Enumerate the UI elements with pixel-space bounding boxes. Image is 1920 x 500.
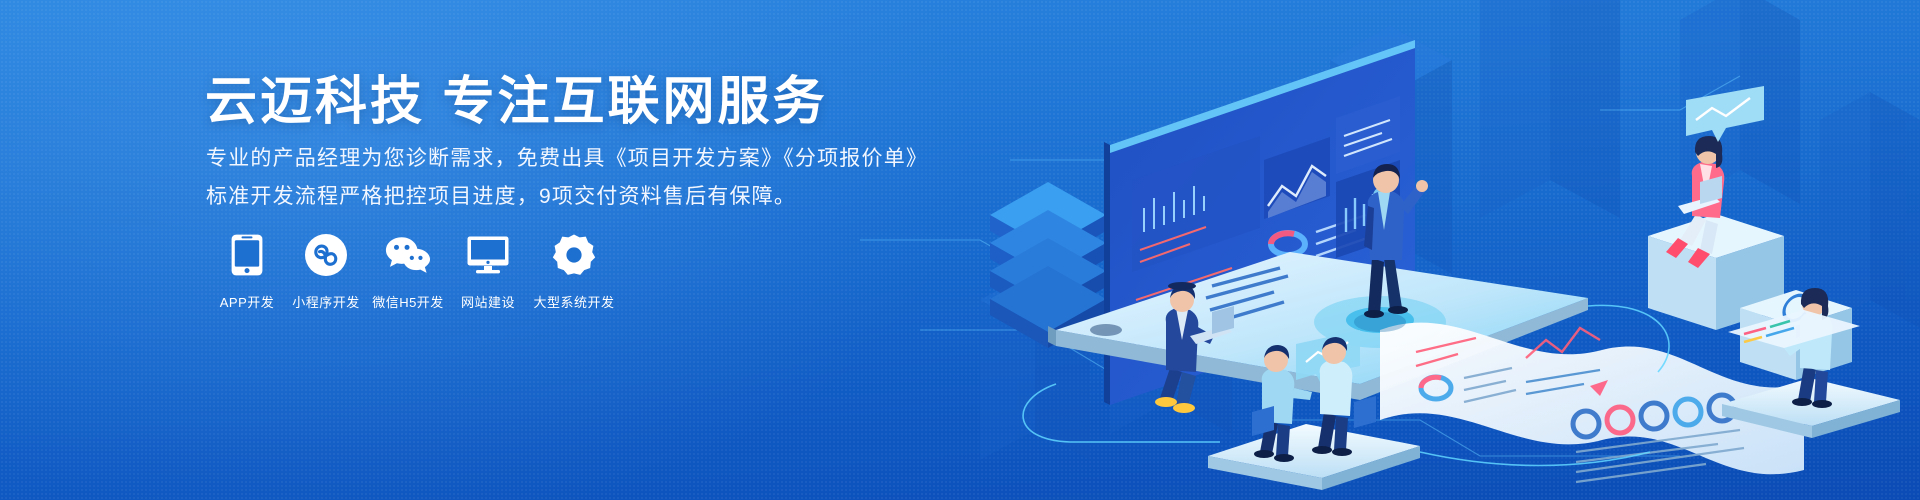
code-panel	[1728, 310, 1860, 348]
woman-on-tablet-platform	[1722, 288, 1900, 438]
chart-speech-bubble-small	[1296, 330, 1360, 386]
service-item-website[interactable]: 网站建设	[450, 232, 526, 311]
service-label: 网站建设	[461, 292, 515, 311]
chart-speech-bubble	[1686, 86, 1764, 142]
subtitle-line-1: 专业的产品经理为您诊断需求，免费出具《项目开发方案》《分项报价单》	[206, 148, 928, 169]
service-label: 大型系统开发	[533, 292, 614, 311]
service-label: 微信H5开发	[372, 292, 444, 311]
banner-content: 云迈科技 专注互联网服务 专业的产品经理为您诊断需求，免费出具《项目开发方案》《…	[200, 0, 1020, 500]
seated-person-laptop	[1155, 268, 1288, 413]
page-title: 云迈科技 专注互联网服务	[205, 74, 827, 130]
background-geometry	[980, 0, 1920, 460]
glow-connectors	[1023, 305, 1669, 465]
service-item-wechat-h5[interactable]: 微信H5开发	[366, 232, 450, 311]
gear-icon	[551, 232, 597, 278]
service-item-large-system[interactable]: 大型系统开发	[526, 232, 622, 311]
woman-on-pedestal-laptop	[1648, 86, 1784, 330]
two-people-on-phone-platform	[1208, 337, 1420, 490]
service-item-mini-program[interactable]: 小程序开发	[286, 232, 366, 311]
tablet-platform	[1048, 252, 1588, 400]
search-block-icon	[1740, 290, 1852, 380]
dashboard-screen	[1104, 40, 1420, 405]
smartphone-icon	[224, 232, 270, 278]
hero-banner: 云迈科技 专注互联网服务 专业的产品经理为您诊断需求，免费出具《项目开发方案》《…	[0, 0, 1920, 500]
service-label: 小程序开发	[292, 292, 360, 311]
mini-program-icon	[303, 232, 349, 278]
flowing-report-sheet	[1380, 323, 1804, 482]
service-item-app[interactable]: APP开发	[208, 232, 286, 311]
service-list: APP开发 小程序开发	[208, 232, 622, 311]
monitor-icon	[465, 232, 511, 278]
standing-person-pointing	[1354, 164, 1428, 332]
subtitle-line-2: 标准开发流程严格把控项目进度，9项交付资料售后有保障。	[206, 186, 796, 207]
service-label: APP开发	[220, 292, 275, 311]
wechat-icon	[385, 232, 431, 278]
